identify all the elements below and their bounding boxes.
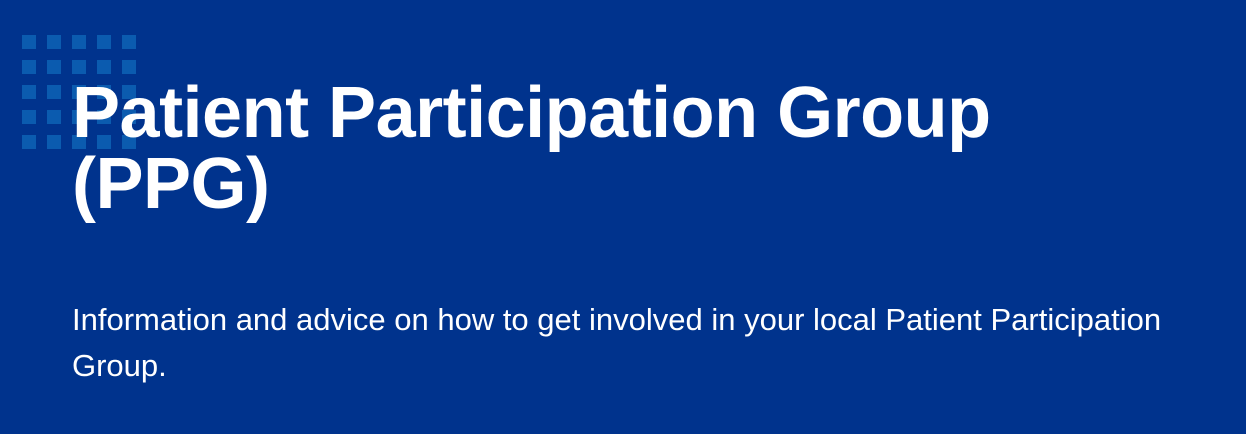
page-subtitle: Information and advice on how to get inv… bbox=[72, 297, 1217, 389]
dot-grid-square bbox=[22, 60, 36, 74]
dot-grid-square bbox=[47, 110, 61, 124]
hero-banner: Patient Participation Group (PPG) Inform… bbox=[0, 0, 1246, 434]
dot-grid-square bbox=[47, 60, 61, 74]
page-title: Patient Participation Group (PPG) bbox=[72, 78, 1182, 221]
dot-grid-square bbox=[47, 35, 61, 49]
dot-grid-square bbox=[22, 35, 36, 49]
dot-grid-square bbox=[47, 135, 61, 149]
dot-grid-square bbox=[22, 110, 36, 124]
dot-grid-square bbox=[47, 85, 61, 99]
dot-grid-square bbox=[22, 85, 36, 99]
hero-content: Patient Participation Group (PPG) Inform… bbox=[72, 0, 1222, 434]
dot-grid-square bbox=[22, 135, 36, 149]
